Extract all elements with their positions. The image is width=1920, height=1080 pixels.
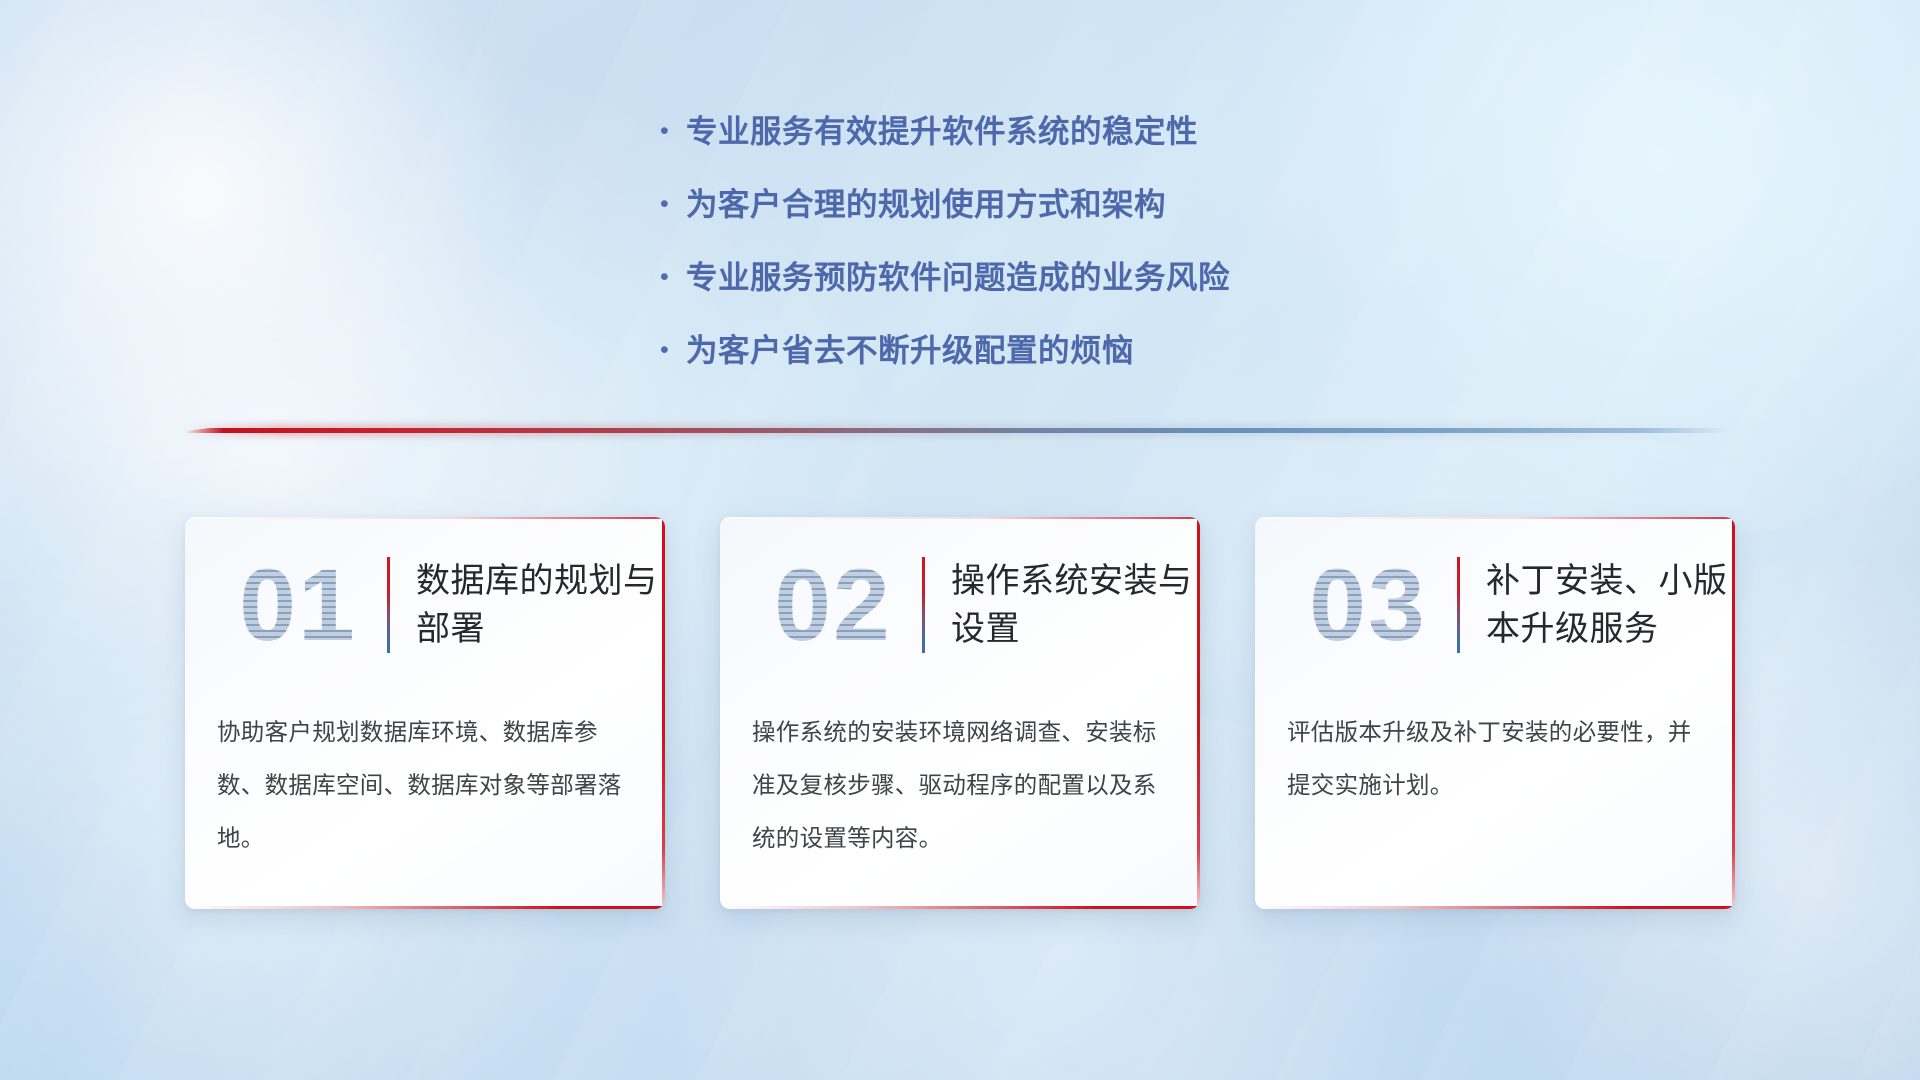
- bullet-item-label: 为客户省去不断升级配置的烦恼: [686, 327, 1134, 373]
- card-bottom-accent: [185, 906, 665, 909]
- service-card[interactable]: 01 数据库的规划与部署 协助客户规划数据库环境、数据库参数、数据库空间、数据库…: [185, 517, 665, 909]
- bullet-item: • 为客户省去不断升级配置的烦恼: [660, 327, 1480, 373]
- card-number-watermark: 01: [209, 554, 387, 656]
- service-card[interactable]: 02 操作系统安装与设置 操作系统的安装环境网络调查、安装标准及复核步骤、驱动程…: [720, 517, 1200, 909]
- bullet-item-label: 专业服务有效提升软件系统的稳定性: [686, 108, 1198, 154]
- section-divider-line: [185, 428, 1730, 433]
- bullet-dot-icon: •: [660, 181, 686, 227]
- card-title: 数据库的规划与部署: [416, 557, 665, 653]
- card-header: 02 操作系统安装与设置: [720, 517, 1200, 692]
- service-card-list: 01 数据库的规划与部署 协助客户规划数据库环境、数据库参数、数据库空间、数据库…: [185, 517, 1735, 917]
- bullet-dot-icon: •: [660, 108, 686, 154]
- card-header: 01 数据库的规划与部署: [185, 517, 665, 692]
- bullet-item-label: 专业服务预防软件问题造成的业务风险: [686, 254, 1230, 300]
- card-body-text: 协助客户规划数据库环境、数据库参数、数据库空间、数据库对象等部署落地。: [185, 692, 665, 865]
- bullet-item: • 为客户合理的规划使用方式和架构: [660, 181, 1480, 227]
- section-divider: [185, 424, 1730, 440]
- card-title-divider: [1457, 557, 1460, 653]
- slide-canvas: • 专业服务有效提升软件系统的稳定性 • 为客户合理的规划使用方式和架构 • 专…: [0, 0, 1920, 1080]
- card-title: 操作系统安装与设置: [951, 557, 1200, 653]
- card-bottom-accent: [1255, 906, 1735, 909]
- bullet-item-label: 为客户合理的规划使用方式和架构: [686, 181, 1166, 227]
- bullet-item: • 专业服务预防软件问题造成的业务风险: [660, 254, 1480, 300]
- card-header: 03 补丁安装、小版本升级服务: [1255, 517, 1735, 692]
- bullet-dot-icon: •: [660, 254, 686, 300]
- benefits-bullet-list: • 专业服务有效提升软件系统的稳定性 • 为客户合理的规划使用方式和架构 • 专…: [660, 108, 1480, 400]
- bullet-dot-icon: •: [660, 327, 686, 373]
- service-card[interactable]: 03 补丁安装、小版本升级服务 评估版本升级及补丁安装的必要性，并提交实施计划。: [1255, 517, 1735, 909]
- card-title-divider: [387, 557, 390, 653]
- card-number-watermark: 03: [1279, 554, 1457, 656]
- bullet-item: • 专业服务有效提升软件系统的稳定性: [660, 108, 1480, 154]
- card-title-divider: [922, 557, 925, 653]
- card-body-text: 操作系统的安装环境网络调查、安装标准及复核步骤、驱动程序的配置以及系统的设置等内…: [720, 692, 1200, 865]
- card-title: 补丁安装、小版本升级服务: [1486, 557, 1735, 653]
- card-bottom-accent: [720, 906, 1200, 909]
- card-body-text: 评估版本升级及补丁安装的必要性，并提交实施计划。: [1255, 692, 1735, 812]
- card-number-watermark: 02: [744, 554, 922, 656]
